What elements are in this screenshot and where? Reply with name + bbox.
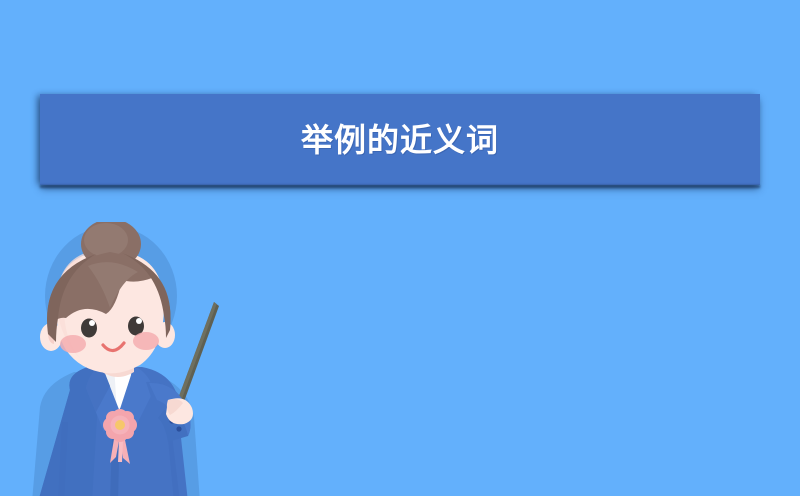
sleeve-button	[176, 426, 181, 431]
teacher-illustration	[18, 222, 248, 496]
slide-canvas: 举例的近义词	[0, 0, 800, 496]
page-title: 举例的近义词	[301, 124, 499, 156]
title-banner: 举例的近义词	[40, 94, 760, 185]
